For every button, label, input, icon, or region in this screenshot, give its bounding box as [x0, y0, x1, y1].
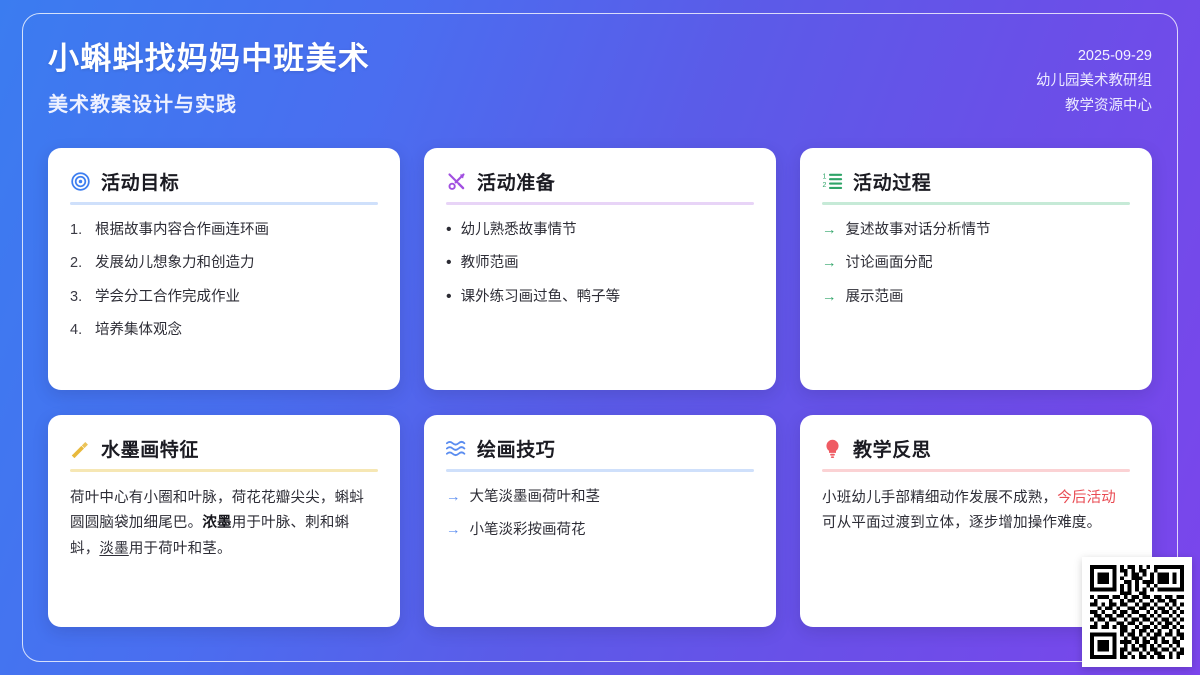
- list-marker: •: [446, 219, 452, 241]
- card-title: 教学反思: [853, 435, 931, 462]
- list-item: 4.培养集体观念: [70, 319, 378, 341]
- tools-icon: [446, 171, 467, 192]
- card-title: 水墨画特征: [101, 435, 199, 462]
- waves-icon: [446, 438, 467, 459]
- card-grid: 活动目标1.根据故事内容合作画连环画2.发展幼儿想象力和创造力3.学会分工合作完…: [48, 148, 1152, 627]
- list-marker: →: [822, 252, 837, 274]
- list-marker: 4.: [70, 319, 86, 341]
- card-list: →大笔淡墨画荷叶和茎→小笔淡彩按画荷花: [446, 486, 754, 542]
- text-segment: 今后活动: [1057, 490, 1116, 506]
- list-item-text: 幼儿熟悉故事情节: [461, 219, 577, 241]
- list-marker: →: [822, 219, 837, 241]
- card-divider: [822, 469, 1130, 472]
- list-item-text: 学会分工合作完成作业: [95, 286, 240, 308]
- card-divider: [70, 469, 378, 472]
- card-divider: [822, 202, 1130, 205]
- card-painting-techniques: 绘画技巧→大笔淡墨画荷叶和茎→小笔淡彩按画荷花: [424, 415, 776, 627]
- list-marker: •: [446, 252, 452, 274]
- qr-code-image: [1090, 565, 1184, 659]
- list-item-text: 发展幼儿想象力和创造力: [95, 252, 255, 274]
- card-ink-painting-features: 水墨画特征荷叶中心有小圈和叶脉，荷花花瓣尖尖，蝌蚪圆圆脑袋加细尾巴。浓墨用于叶脉…: [48, 415, 400, 627]
- list-item: →大笔淡墨画荷叶和茎: [446, 486, 754, 508]
- list-item: 3.学会分工合作完成作业: [70, 286, 378, 308]
- slide-header: 小蝌蚪找妈妈中班美术 美术教案设计与实践 2025-09-29 幼儿园美术教研组…: [48, 34, 1152, 142]
- svg-text:1: 1: [822, 173, 826, 180]
- list-item-text: 展示范画: [846, 286, 904, 308]
- list-marker: 2.: [70, 252, 86, 274]
- meta-department: 教学资源中心: [1036, 94, 1152, 119]
- list-item-text: 复述故事对话分析情节: [846, 219, 991, 241]
- card-paragraph: 荷叶中心有小圈和叶脉，荷花花瓣尖尖，蝌蚪圆圆脑袋加细尾巴。浓墨用于叶脉、刺和蝌蚪…: [70, 486, 378, 562]
- target-icon: [70, 171, 91, 192]
- list-item-text: 课外练习画过鱼、鸭子等: [461, 286, 621, 308]
- card-header: 教学反思: [822, 435, 1130, 469]
- text-segment: 用于荷叶和茎。: [129, 541, 232, 557]
- page-subtitle: 美术教案设计与实践: [48, 88, 370, 117]
- card-list: 1.根据故事内容合作画连环画2.发展幼儿想象力和创造力3.学会分工合作完成作业4…: [70, 219, 378, 342]
- lightbulb-icon: [822, 438, 843, 459]
- list-marker: →: [446, 519, 461, 541]
- list-marker: →: [822, 286, 837, 308]
- list-item-text: 小笔淡彩按画荷花: [470, 519, 586, 541]
- slide-root: 小蝌蚪找妈妈中班美术 美术教案设计与实践 2025-09-29 幼儿园美术教研组…: [0, 0, 1200, 675]
- card-divider: [70, 202, 378, 205]
- card-header: 1 2 活动过程: [822, 168, 1130, 202]
- card-divider: [446, 202, 754, 205]
- card-list: •幼儿熟悉故事情节•教师范画•课外练习画过鱼、鸭子等: [446, 219, 754, 308]
- header-meta: 2025-09-29 幼儿园美术教研组 教学资源中心: [1036, 34, 1152, 119]
- text-segment: 淡墨: [99, 541, 128, 557]
- header-titles: 小蝌蚪找妈妈中班美术 美术教案设计与实践: [48, 34, 370, 117]
- card-header: 活动准备: [446, 168, 754, 202]
- list-item: →小笔淡彩按画荷花: [446, 519, 754, 541]
- card-list: →复述故事对话分析情节→讨论画面分配→展示范画: [822, 219, 1130, 308]
- svg-text:2: 2: [822, 182, 826, 189]
- text-segment: 小班幼儿手部精细动作发展不成熟，: [822, 490, 1057, 506]
- meta-organization: 幼儿园美术教研组: [1036, 69, 1152, 94]
- card-title: 活动目标: [101, 168, 179, 195]
- list-marker: 3.: [70, 286, 86, 308]
- card-divider: [446, 469, 754, 472]
- card-activity-process: 1 2 活动过程→复述故事对话分析情节→讨论画面分配→展示范画: [800, 148, 1152, 390]
- card-header: 水墨画特征: [70, 435, 378, 469]
- list-marker: 1.: [70, 219, 86, 241]
- ordered-list-icon: 1 2: [822, 171, 843, 192]
- list-marker: →: [446, 486, 461, 508]
- text-segment: 可从平面过渡到立体，逐步增加操作难度。: [822, 515, 1101, 531]
- card-activity-goals: 活动目标1.根据故事内容合作画连环画2.发展幼儿想象力和创造力3.学会分工合作完…: [48, 148, 400, 390]
- card-header: 绘画技巧: [446, 435, 754, 469]
- list-item: →展示范画: [822, 286, 1130, 308]
- card-activity-preparation: 活动准备•幼儿熟悉故事情节•教师范画•课外练习画过鱼、鸭子等: [424, 148, 776, 390]
- meta-date: 2025-09-29: [1036, 44, 1152, 69]
- card-header: 活动目标: [70, 168, 378, 202]
- slide-content: 小蝌蚪找妈妈中班美术 美术教案设计与实践 2025-09-29 幼儿园美术教研组…: [0, 0, 1200, 675]
- card-title: 绘画技巧: [477, 435, 555, 462]
- list-item: 1.根据故事内容合作画连环画: [70, 219, 378, 241]
- page-title: 小蝌蚪找妈妈中班美术: [48, 40, 370, 79]
- card-paragraph: 小班幼儿手部精细动作发展不成熟，今后活动可从平面过渡到立体，逐步增加操作难度。: [822, 486, 1130, 537]
- list-item: →复述故事对话分析情节: [822, 219, 1130, 241]
- list-item: •幼儿熟悉故事情节: [446, 219, 754, 241]
- list-item-text: 教师范画: [461, 252, 519, 274]
- text-segment: 浓墨: [202, 515, 231, 531]
- card-title: 活动过程: [853, 168, 931, 195]
- list-marker: •: [446, 286, 452, 308]
- list-item: •教师范画: [446, 252, 754, 274]
- list-item: →讨论画面分配: [822, 252, 1130, 274]
- list-item-text: 大笔淡墨画荷叶和茎: [470, 486, 601, 508]
- list-item-text: 根据故事内容合作画连环画: [95, 219, 269, 241]
- paintbrush-icon: [70, 438, 91, 459]
- qr-code[interactable]: [1082, 557, 1192, 667]
- list-item: 2.发展幼儿想象力和创造力: [70, 252, 378, 274]
- list-item-text: 培养集体观念: [95, 319, 182, 341]
- card-title: 活动准备: [477, 168, 555, 195]
- list-item: •课外练习画过鱼、鸭子等: [446, 286, 754, 308]
- list-item-text: 讨论画面分配: [846, 252, 933, 274]
